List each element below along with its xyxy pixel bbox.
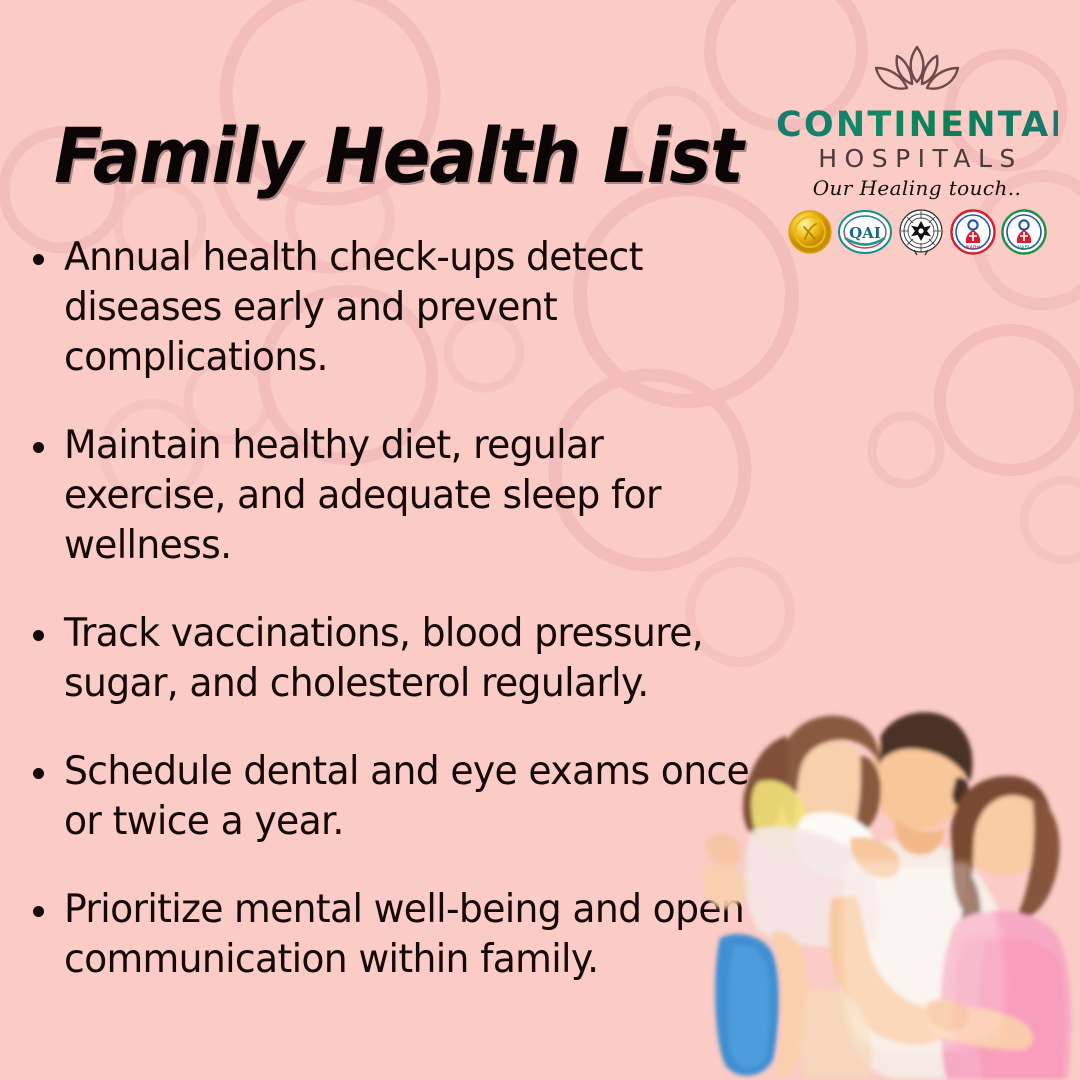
qai-accreditation-badge: QAI: [838, 209, 892, 255]
bullet-dot-icon: [33, 768, 44, 779]
bullet-dot-icon: [33, 254, 44, 265]
list-item: Annual health check-ups detect diseases …: [26, 232, 786, 382]
list-item: Track vaccinations, blood pressure, suga…: [26, 608, 786, 708]
nabh-red-badge: NABH: [950, 209, 996, 255]
svg-text:NABH: NABH: [966, 245, 981, 251]
list-item: Schedule dental and eye exams once or tw…: [26, 746, 786, 846]
brand-tagline: Our Healing touch..: [776, 175, 1058, 201]
list-item: Maintain healthy diet, regular exercise,…: [26, 420, 786, 570]
list-item-text: Maintain healthy diet, regular exercise,…: [64, 420, 752, 570]
list-item-text: Track vaccinations, blood pressure, suga…: [64, 608, 752, 708]
bullet-dot-icon: [33, 906, 44, 917]
brand-subtitle: HOSPITALS: [776, 144, 1058, 174]
poster-canvas: Family Health List Annual health check-u…: [0, 0, 1080, 1080]
nabl-green-badge: NABL: [1001, 209, 1047, 255]
svg-text:QAI: QAI: [849, 224, 881, 242]
star-seal-badge: [897, 208, 945, 256]
accreditation-badges: QAI NABH: [776, 208, 1058, 256]
bullet-dot-icon: [33, 630, 44, 641]
bullet-dot-icon: [33, 442, 44, 453]
gold-medal-badge: [787, 209, 833, 255]
list-item: Prioritize mental well-being and open co…: [26, 884, 786, 984]
health-tips-list: Annual health check-ups detect diseases …: [26, 232, 786, 1022]
hospital-logo: CONTINENTAL HOSPITALS Our Healing touch.…: [776, 42, 1058, 256]
brand-name: CONTINENTAL: [776, 106, 1058, 144]
page-title: Family Health List: [54, 118, 742, 194]
lotus-icon: [854, 42, 980, 102]
list-item-text: Annual health check-ups detect diseases …: [64, 232, 752, 382]
list-item-text: Prioritize mental well-being and open co…: [64, 884, 752, 984]
svg-text:NABL: NABL: [1017, 245, 1031, 251]
list-item-text: Schedule dental and eye exams once or tw…: [64, 746, 752, 846]
